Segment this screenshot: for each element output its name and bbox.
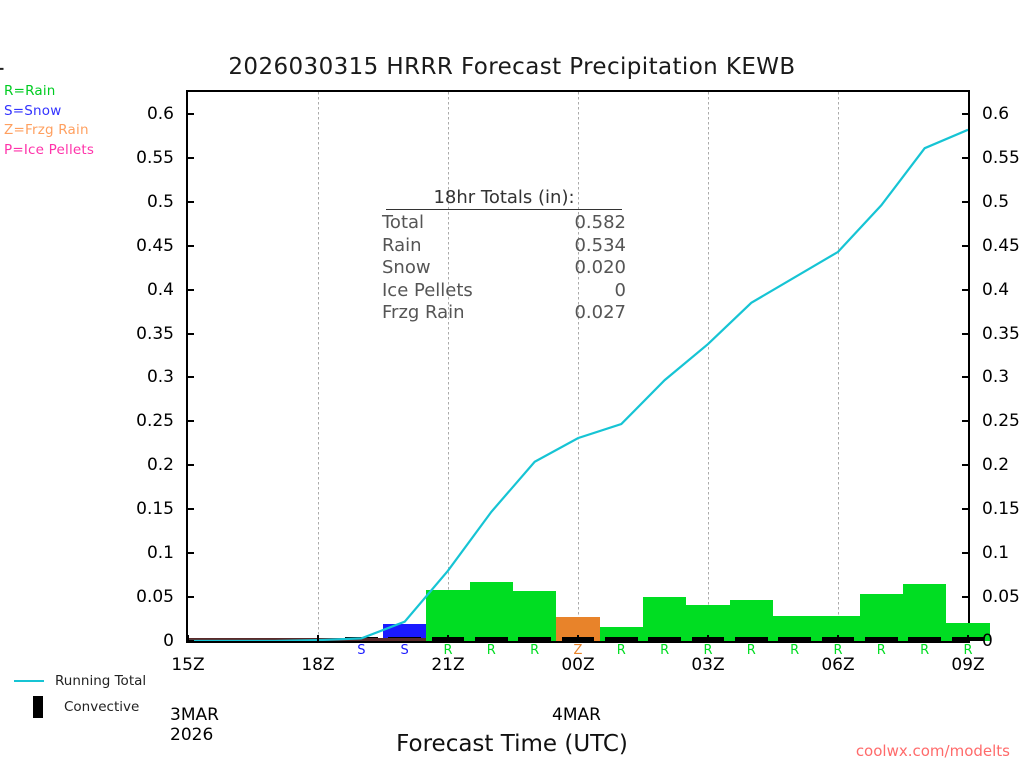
y-axis-label-right: 0.1 — [982, 543, 1009, 563]
box-swatch-icon — [33, 696, 43, 718]
y-axis-title: Precipitation (in) — [0, 0, 5, 125]
y-axis-label-left: 0 — [163, 631, 174, 651]
watermark: coolwx.com/modelts — [856, 742, 1010, 760]
totals-label-total: Total — [382, 212, 424, 235]
x-axis-label: 03Z — [691, 655, 724, 675]
bottom-legend: Running Total Convective — [14, 668, 146, 720]
x-axis-label: 21Z — [431, 655, 464, 675]
running-total-line — [188, 92, 968, 641]
legend-running-total: Running Total — [14, 668, 146, 694]
y-axis-tick — [187, 113, 194, 115]
precip-type-label: R — [877, 643, 886, 658]
y-axis-label-right: 0.2 — [982, 455, 1009, 475]
y-axis-tick — [962, 289, 969, 291]
precip-type-label: R — [530, 643, 539, 658]
y-axis-label-left: 0.4 — [147, 280, 174, 300]
y-axis-label-left: 0.45 — [136, 236, 174, 256]
x-axis-label: 00Z — [561, 655, 594, 675]
y-axis-tick — [187, 289, 194, 291]
y-axis-label-left: 0.15 — [136, 499, 174, 519]
y-axis-label-left: 0.3 — [147, 367, 174, 387]
legend-item-rain: R=Rain — [4, 82, 94, 102]
y-axis-tick — [962, 201, 969, 203]
precip-type-label: R — [487, 643, 496, 658]
totals-label-snow: Snow — [382, 257, 431, 280]
precip-type-label: R — [747, 643, 756, 658]
precip-type-label: R — [660, 643, 669, 658]
y-axis-label-right: 0.05 — [982, 587, 1020, 607]
y-axis-tick — [187, 157, 194, 159]
y-axis-label-right: 0.5 — [982, 192, 1009, 212]
legend-item-snow: S=Snow — [4, 102, 94, 122]
y-axis-label-left: 0.6 — [147, 104, 174, 124]
plot-area: SSRRRZRRRRRRRRR 18hr Totals (in): Total … — [186, 90, 970, 643]
y-axis-tick — [962, 596, 969, 598]
x-axis-label: 06Z — [821, 655, 854, 675]
totals-row-rain: Rain 0.534 — [382, 235, 626, 258]
y-axis-label-left: 0.55 — [136, 148, 174, 168]
y-axis-label-left: 0.2 — [147, 455, 174, 475]
date-label-start: 3MAR 2026 — [170, 705, 219, 745]
y-axis-tick — [187, 245, 194, 247]
totals-row-frzg-rain: Frzg Rain 0.027 — [382, 302, 626, 325]
y-axis-label-left: 0.35 — [136, 324, 174, 344]
legend-label-ice-pellets: P=Ice Pellets — [4, 142, 94, 158]
precip-type-label: R — [920, 643, 929, 658]
page-title: 2026030315 HRRR Forecast Precipitation K… — [0, 54, 1024, 80]
date-left-line1: 3MAR — [170, 705, 219, 725]
precip-type-legend: R=Rain S=Snow Z=Frzg Rain P=Ice Pellets — [4, 82, 94, 160]
totals-row-ice-pellets: Ice Pellets 0 — [382, 280, 626, 303]
y-axis-label-right: 0.3 — [982, 367, 1009, 387]
y-axis-tick — [962, 333, 969, 335]
legend-convective: Convective — [14, 694, 146, 720]
y-axis-label-left: 0.5 — [147, 192, 174, 212]
y-axis-tick — [187, 201, 194, 203]
date-left-line2: 2026 — [170, 725, 219, 745]
y-axis-tick — [962, 376, 969, 378]
totals-box: 18hr Totals (in): Total 0.582 Rain 0.534… — [378, 185, 630, 327]
x-axis-tick — [837, 635, 839, 642]
totals-value-snow: 0.020 — [574, 257, 626, 280]
legend-label-rain: R=Rain — [4, 83, 56, 99]
y-axis-label-right: 0.55 — [982, 148, 1020, 168]
y-axis-tick — [187, 333, 194, 335]
y-axis-tick — [962, 508, 969, 510]
y-axis-label-left: 0.25 — [136, 411, 174, 431]
y-axis-tick — [187, 596, 194, 598]
legend-item-frzg-rain: Z=Frzg Rain — [4, 121, 94, 141]
totals-value-rain: 0.534 — [574, 235, 626, 258]
y-axis-label-right: 0.35 — [982, 324, 1020, 344]
x-axis-label: 09Z — [951, 655, 984, 675]
x-axis-label: 15Z — [171, 655, 204, 675]
y-axis-tick — [187, 376, 194, 378]
y-axis-label-right: 0.45 — [982, 236, 1020, 256]
y-axis-tick — [962, 245, 969, 247]
y-axis-tick — [962, 552, 969, 554]
totals-value-frzg-rain: 0.027 — [574, 302, 626, 325]
totals-row-total: Total 0.582 — [382, 212, 626, 235]
totals-label-ice-pellets: Ice Pellets — [382, 280, 473, 303]
precip-type-label: R — [790, 643, 799, 658]
y-axis-tick — [962, 113, 969, 115]
precip-type-label: S — [357, 643, 365, 658]
y-axis-label-right: 0.15 — [982, 499, 1020, 519]
date-label-mid: 4MAR — [552, 705, 601, 725]
x-axis-tick — [577, 635, 579, 642]
legend-label-running-total: Running Total — [55, 673, 146, 689]
y-axis-label-right: 0.25 — [982, 411, 1020, 431]
date-mid-line1: 4MAR — [552, 705, 601, 725]
y-axis-label-left: 0.05 — [136, 587, 174, 607]
y-axis-tick — [187, 552, 194, 554]
totals-value-total: 0.582 — [574, 212, 626, 235]
y-axis-tick — [187, 508, 194, 510]
y-axis-label-right: 0.4 — [982, 280, 1009, 300]
legend-label-snow: S=Snow — [4, 103, 62, 119]
y-axis-label-right: 0 — [982, 631, 993, 651]
totals-label-frzg-rain: Frzg Rain — [382, 302, 465, 325]
line-swatch-icon — [14, 680, 44, 682]
x-axis-tick — [447, 635, 449, 642]
x-axis-tick — [967, 635, 969, 642]
y-axis-tick — [187, 420, 194, 422]
y-axis-label-right: 0.6 — [982, 104, 1009, 124]
y-axis-label-left: 0.1 — [147, 543, 174, 563]
y-axis-tick — [187, 464, 194, 466]
plot-inner: SSRRRZRRRRRRRRR — [188, 92, 968, 641]
y-axis-tick — [962, 420, 969, 422]
x-axis-label: 18Z — [301, 655, 334, 675]
x-axis-tick — [317, 635, 319, 642]
x-axis-tick — [187, 635, 189, 642]
y-axis-tick — [962, 464, 969, 466]
y-axis-tick — [962, 157, 969, 159]
totals-row-snow: Snow 0.020 — [382, 257, 626, 280]
legend-label-convective: Convective — [64, 699, 139, 715]
totals-value-ice-pellets: 0 — [615, 280, 626, 303]
totals-header: 18hr Totals (in): — [386, 187, 622, 210]
precip-type-label: S — [401, 643, 409, 658]
x-axis-tick — [707, 635, 709, 642]
precip-type-label: R — [617, 643, 626, 658]
legend-item-ice-pellets: P=Ice Pellets — [4, 141, 94, 161]
totals-label-rain: Rain — [382, 235, 422, 258]
legend-label-frzg-rain: Z=Frzg Rain — [4, 122, 89, 138]
